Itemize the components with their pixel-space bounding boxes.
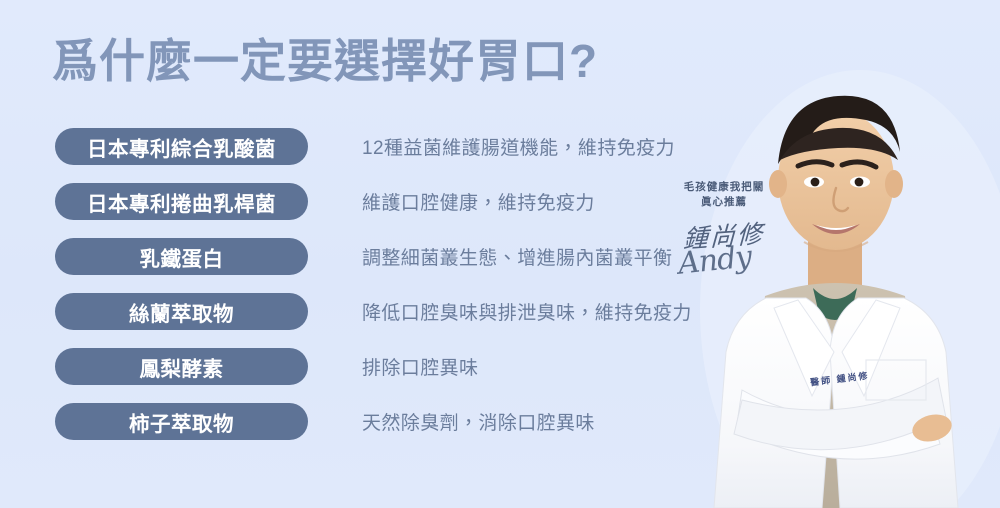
- signature: 鍾尚修 Andy: [660, 217, 788, 279]
- ingredient-benefit-6: 天然除臭劑，消除口腔異味: [308, 403, 595, 440]
- ingredient-pill-5: 鳳梨酵素: [55, 348, 308, 385]
- ingredient-pill-1: 日本專利綜合乳酸菌: [55, 128, 308, 165]
- ingredient-list: 日本專利綜合乳酸菌 12種益菌維護腸道機能，維持免疫力 日本專利捲曲乳桿菌 維護…: [55, 128, 695, 458]
- ingredient-pill-2: 日本專利捲曲乳桿菌: [55, 183, 308, 220]
- ingredient-benefit-1: 12種益菌維護腸道機能，維持免疫力: [308, 128, 675, 165]
- ingredient-pill-6: 柿子萃取物: [55, 403, 308, 440]
- ingredient-pill-3: 乳鐵蛋白: [55, 238, 308, 275]
- list-item: 日本專利捲曲乳桿菌 維護口腔健康，維持免疫力: [55, 183, 695, 238]
- doctor-portrait: 醫師 鍾尚修: [670, 60, 1000, 508]
- promo-banner: 爲什麼一定要選擇好胃口? 日本專利綜合乳酸菌 12種益菌維護腸道機能，維持免疫力…: [0, 0, 1000, 508]
- list-item: 絲蘭萃取物 降低口腔臭味與排泄臭味，維持免疫力: [55, 293, 695, 348]
- endorsement-block: 毛孩健康我把關 眞心推薦 鍾尚修 Andy: [660, 180, 788, 279]
- list-item: 乳鐵蛋白 調整細菌叢生態、增進腸內菌叢平衡: [55, 238, 695, 293]
- endorsement-line-2: 眞心推薦: [660, 195, 788, 210]
- ingredient-benefit-3: 調整細菌叢生態、增進腸內菌叢平衡: [308, 238, 672, 275]
- ingredient-pill-4: 絲蘭萃取物: [55, 293, 308, 330]
- ingredient-benefit-5: 排除口腔異味: [308, 348, 478, 385]
- coat-embroidery: 醫師 鍾尚修: [809, 368, 870, 388]
- ingredient-benefit-4: 降低口腔臭味與排泄臭味，維持免疫力: [308, 293, 692, 330]
- endorsement-line-1: 毛孩健康我把關: [660, 180, 788, 195]
- signature-name-latin: Andy: [676, 240, 752, 282]
- page-title: 爲什麼一定要選擇好胃口?: [52, 36, 598, 88]
- list-item: 鳳梨酵素 排除口腔異味: [55, 348, 695, 403]
- ingredient-benefit-2: 維護口腔健康，維持免疫力: [308, 183, 595, 220]
- list-item: 柿子萃取物 天然除臭劑，消除口腔異味: [55, 403, 695, 458]
- list-item: 日本專利綜合乳酸菌 12種益菌維護腸道機能，維持免疫力: [55, 128, 695, 183]
